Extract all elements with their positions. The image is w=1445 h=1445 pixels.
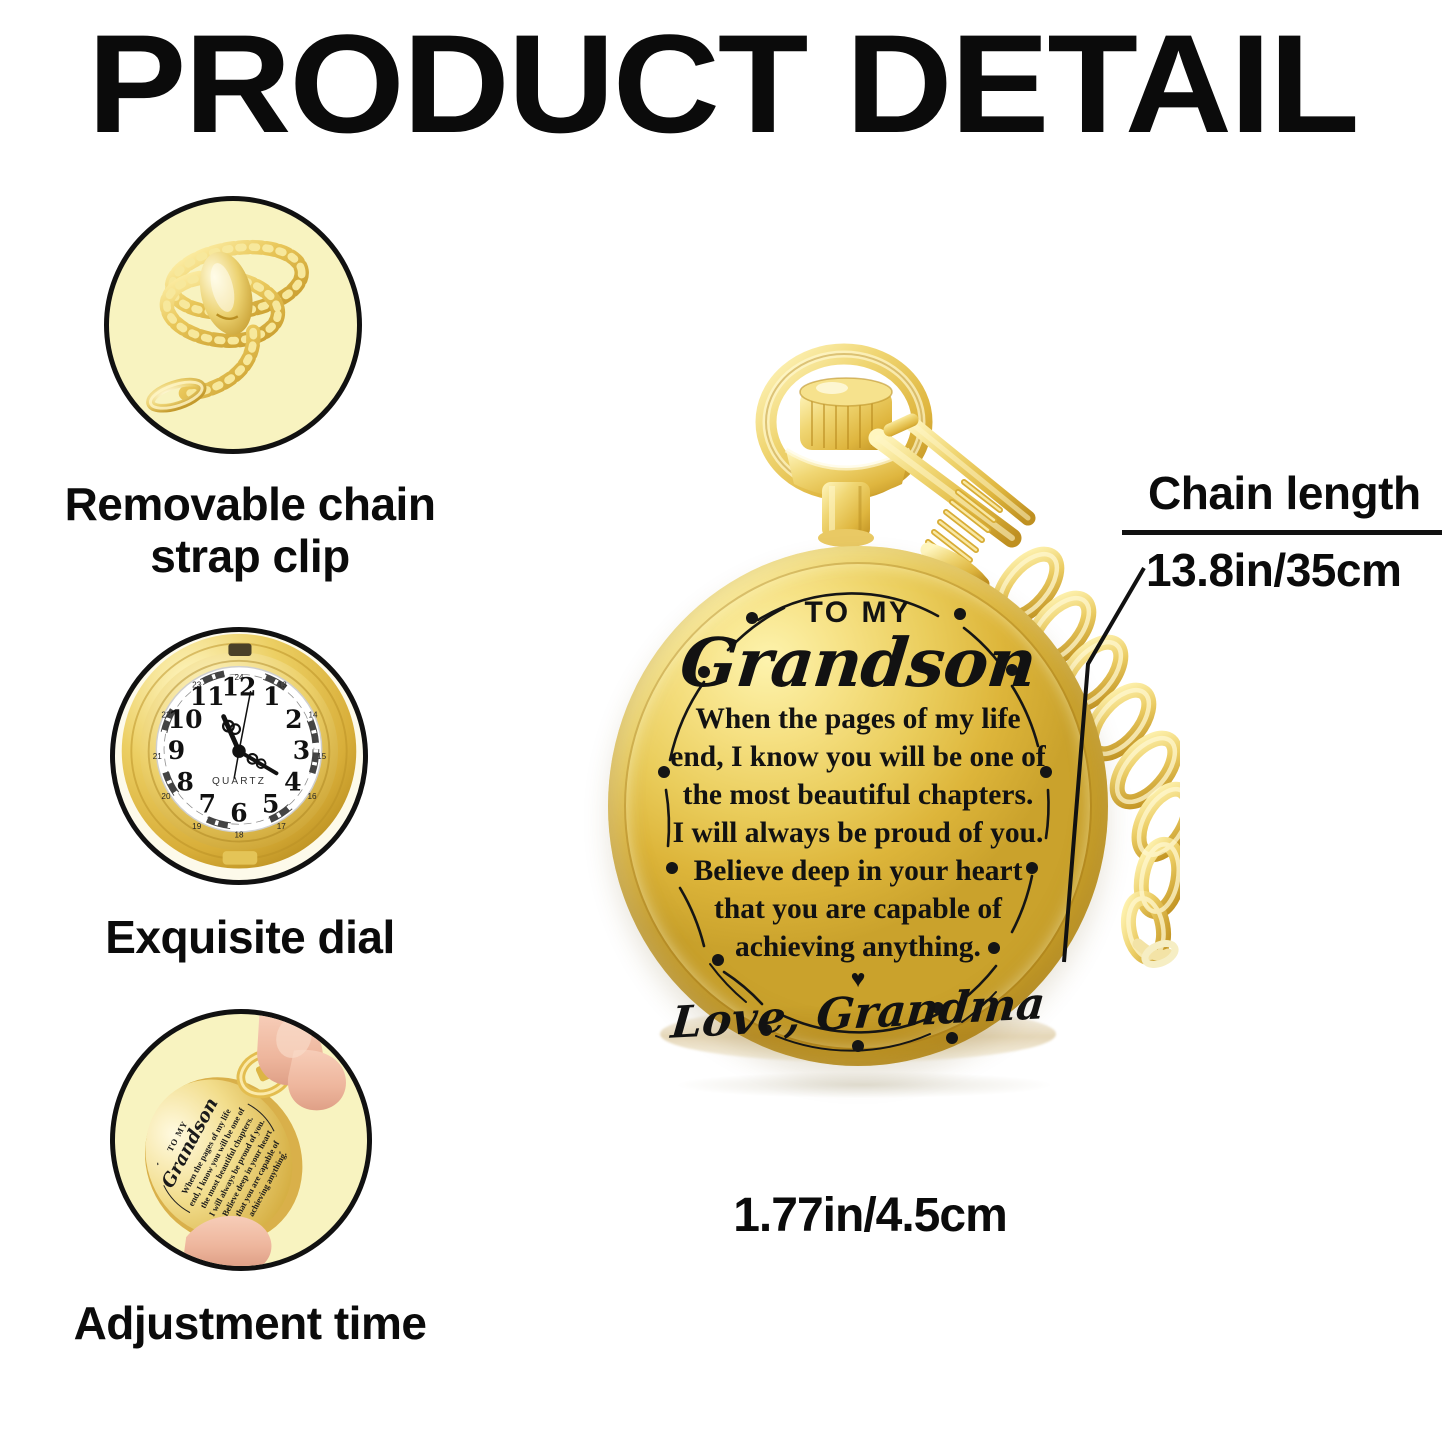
- chain-length-leader-line: [1040, 560, 1150, 970]
- svg-text:4: 4: [284, 767, 301, 796]
- svg-text:6: 6: [230, 798, 247, 827]
- dial-photo: 12 1 2 3 4 5 6 7 8 9 10 11 24 13: [110, 627, 368, 885]
- chain-length-label: Chain length: [1108, 470, 1445, 516]
- svg-text:5: 5: [262, 790, 279, 819]
- svg-text:14: 14: [308, 710, 318, 719]
- svg-text:9: 9: [168, 736, 185, 765]
- svg-text:15: 15: [317, 752, 327, 761]
- stem: [786, 450, 910, 547]
- feature-exquisite-dial: 12 1 2 3 4 5 6 7 8 9 10 11 24 13: [0, 627, 500, 963]
- case-size-label: 1.77in/4.5cm: [560, 1188, 1180, 1243]
- feature-list: Removable chain strap clip: [0, 196, 500, 1350]
- engraving-text-block: TO MY Grandson When the pages of my life…: [652, 598, 1064, 1022]
- svg-text:7: 7: [199, 790, 216, 819]
- svg-text:22: 22: [161, 710, 171, 719]
- svg-text:17: 17: [277, 822, 287, 831]
- engraving-body: When the pages of my life end, I know yo…: [652, 700, 1064, 966]
- svg-text:18: 18: [234, 831, 244, 840]
- feature-label: Exquisite dial: [0, 911, 500, 963]
- feature-label: Removable chain strap clip: [0, 478, 500, 583]
- dial-brand-text: QUARTZ: [212, 776, 266, 787]
- svg-text:21: 21: [153, 752, 163, 761]
- feature-adjustment-time: TO MY Grandson When the pages of my life…: [0, 1009, 500, 1349]
- feature-label: Adjustment time: [0, 1297, 500, 1349]
- svg-text:13: 13: [278, 681, 288, 690]
- svg-text:24: 24: [234, 673, 244, 682]
- case-drop-shadow: [678, 1072, 1050, 1098]
- adjustment-photo: TO MY Grandson When the pages of my life…: [110, 1009, 372, 1271]
- svg-text:19: 19: [192, 822, 202, 831]
- svg-text:8: 8: [176, 767, 193, 796]
- page-title: PRODUCT DETAIL: [0, 14, 1445, 154]
- callout-divider: [1122, 530, 1442, 535]
- svg-text:3: 3: [293, 736, 310, 765]
- chain-clip-photo: [104, 196, 362, 454]
- engraving-recipient: Grandson: [649, 632, 1067, 694]
- hand-holding-watch-icon: TO MY Grandson When the pages of my life…: [115, 1014, 367, 1266]
- chain-length-value: 13.8in/35cm: [1108, 547, 1445, 593]
- chain-length-callout: Chain length 13.8in/35cm: [1108, 470, 1445, 593]
- svg-text:16: 16: [308, 792, 318, 801]
- svg-text:23: 23: [192, 681, 202, 690]
- chain-coil-icon: [109, 201, 357, 449]
- watch-dial-icon: 12 1 2 3 4 5 6 7 8 9 10 11 24 13: [115, 632, 363, 880]
- feature-removable-chain-strap-clip: Removable chain strap clip: [0, 196, 500, 583]
- svg-text:2: 2: [285, 705, 302, 734]
- svg-text:20: 20: [161, 792, 171, 801]
